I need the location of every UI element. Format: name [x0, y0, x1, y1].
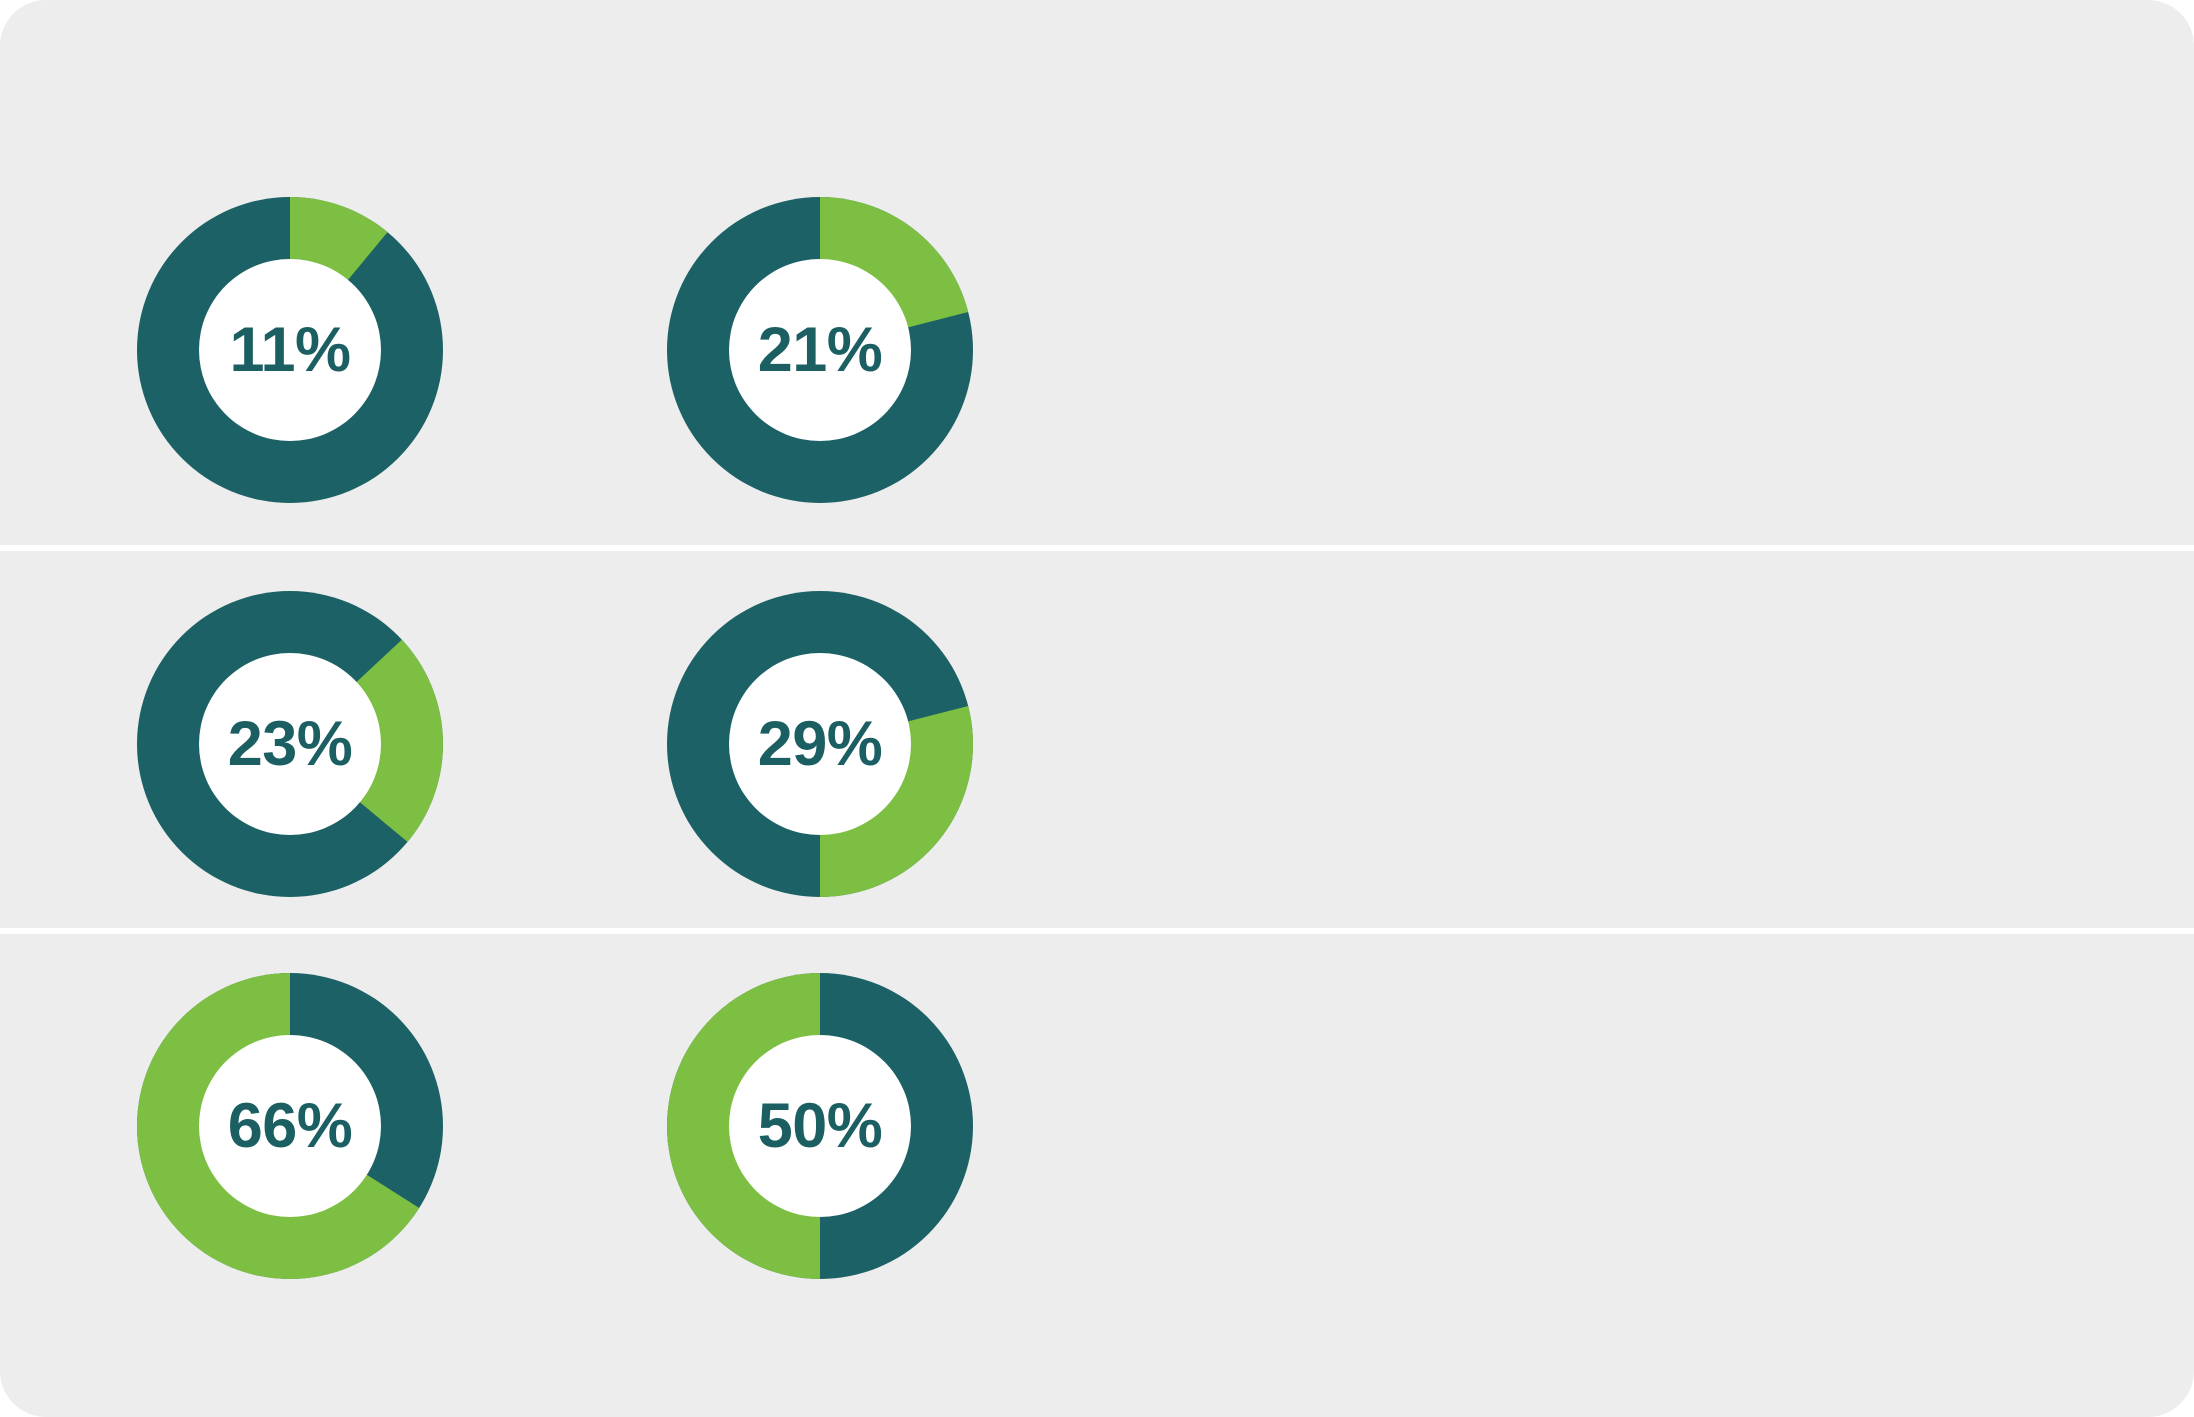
donut-svg	[120, 574, 460, 914]
donut-row-3: 66% 50%	[0, 934, 2194, 1417]
donut-chart-11[interactable]: 11%	[120, 180, 460, 520]
donut-svg	[650, 956, 990, 1296]
donut-hole	[199, 259, 381, 441]
donut-hole	[199, 653, 381, 835]
donut-svg	[650, 180, 990, 520]
donut-hole	[199, 1035, 381, 1217]
donut-row-2: 23% 29%	[0, 551, 2194, 928]
donut-row-1: 11% 21%	[0, 0, 2194, 545]
chart-panel: 11% 21% 23% 29% 66% 50%	[0, 0, 2194, 1417]
donut-chart-21[interactable]: 21%	[650, 180, 990, 520]
donut-svg	[650, 574, 990, 914]
donut-hole	[729, 653, 911, 835]
donut-svg	[120, 956, 460, 1296]
donut-svg	[120, 180, 460, 520]
donut-hole	[729, 1035, 911, 1217]
donut-chart-29[interactable]: 29%	[650, 574, 990, 914]
donut-chart-50[interactable]: 50%	[650, 956, 990, 1296]
donut-chart-66[interactable]: 66%	[120, 956, 460, 1296]
donut-chart-23[interactable]: 23%	[120, 574, 460, 914]
donut-hole	[729, 259, 911, 441]
